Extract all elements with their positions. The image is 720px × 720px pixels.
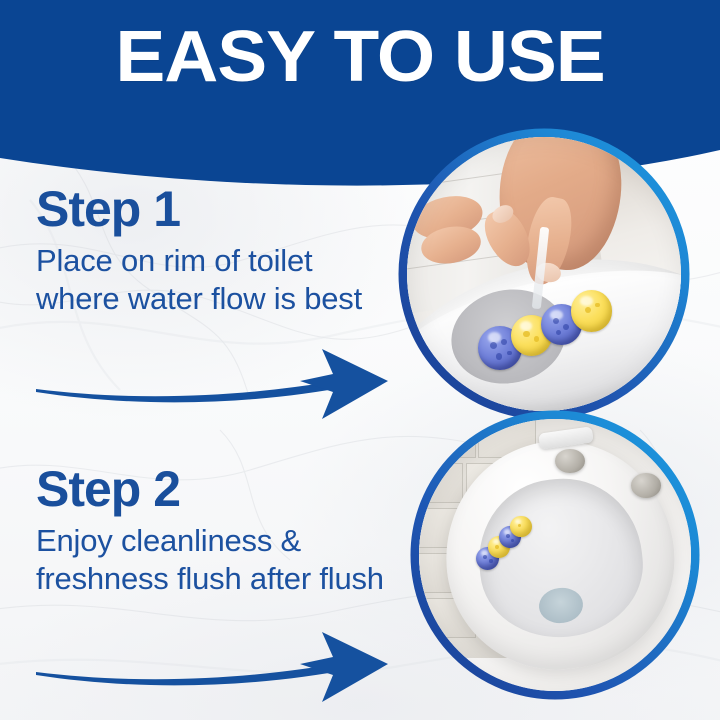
step-2-body: Enjoy cleanliness & freshness flush afte… bbox=[36, 522, 396, 598]
step-2-title: Step 2 bbox=[36, 462, 396, 516]
step-1-photo bbox=[398, 128, 690, 420]
step-2-block: Step 2 Enjoy cleanliness & freshness flu… bbox=[36, 462, 396, 598]
page-title: EASY TO USE bbox=[0, 18, 720, 96]
step-1-block: Step 1 Place on rim of toilet where wate… bbox=[36, 182, 396, 318]
step-1-body: Place on rim of toilet where water flow … bbox=[36, 242, 396, 318]
infographic-canvas: EASY TO USE Step 1 Place on rim of toile… bbox=[0, 0, 720, 720]
step-2-photo-image bbox=[419, 419, 691, 691]
step-1-photo-image bbox=[407, 137, 681, 411]
step-2-photo bbox=[410, 410, 700, 700]
step-1-title: Step 1 bbox=[36, 182, 396, 236]
